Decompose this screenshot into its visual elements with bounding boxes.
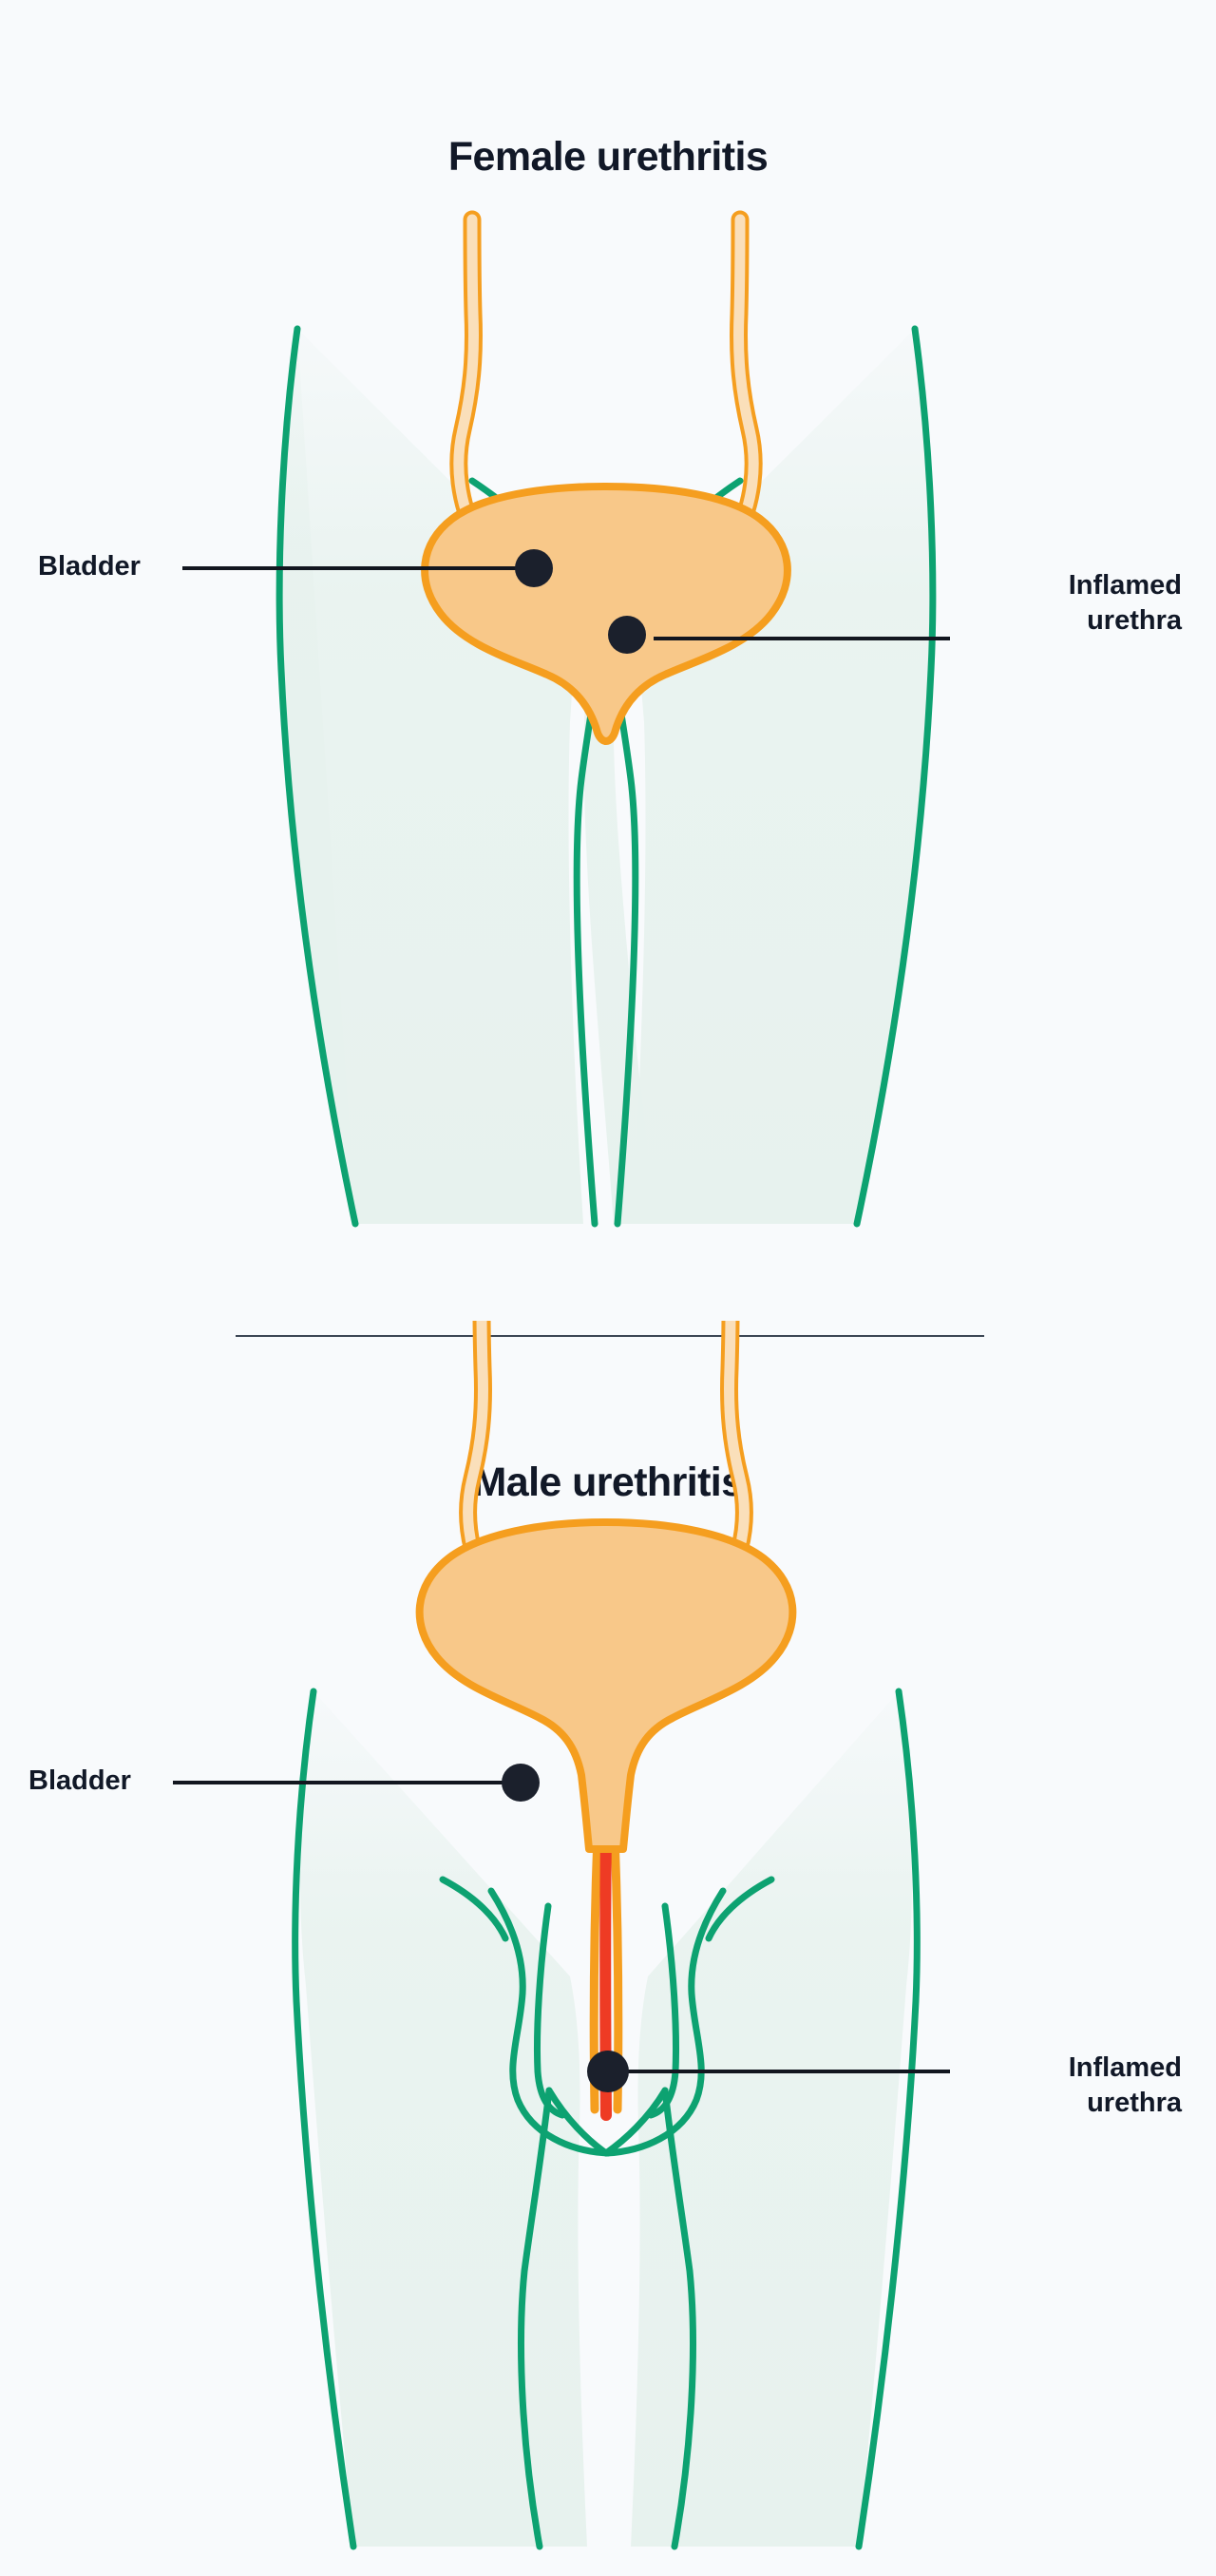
callout-label-bladder-male: Bladder	[28, 1764, 131, 1799]
callout-dot-urethra	[587, 2051, 629, 2092]
callout-dot-bladder	[502, 1764, 540, 1802]
male-bladder	[420, 1522, 793, 1849]
callout-dot-urethra	[608, 616, 646, 654]
female-body-silhouette	[280, 329, 933, 1224]
callout-label-inflamed-urethra-female: Inflamed urethra	[1069, 568, 1182, 639]
male-anatomy-illustration	[0, 1321, 1216, 2576]
female-anatomy-illustration	[0, 0, 1216, 1321]
callout-label-inflamed-urethra-male: Inflamed urethra	[1069, 2051, 1182, 2121]
panel-female-urethritis: Female urethritis	[0, 0, 1216, 1321]
callout-dot-bladder	[515, 549, 553, 587]
panel-male-urethritis: Male urethritis	[0, 1321, 1216, 2576]
callout-label-bladder-female: Bladder	[38, 549, 141, 584]
